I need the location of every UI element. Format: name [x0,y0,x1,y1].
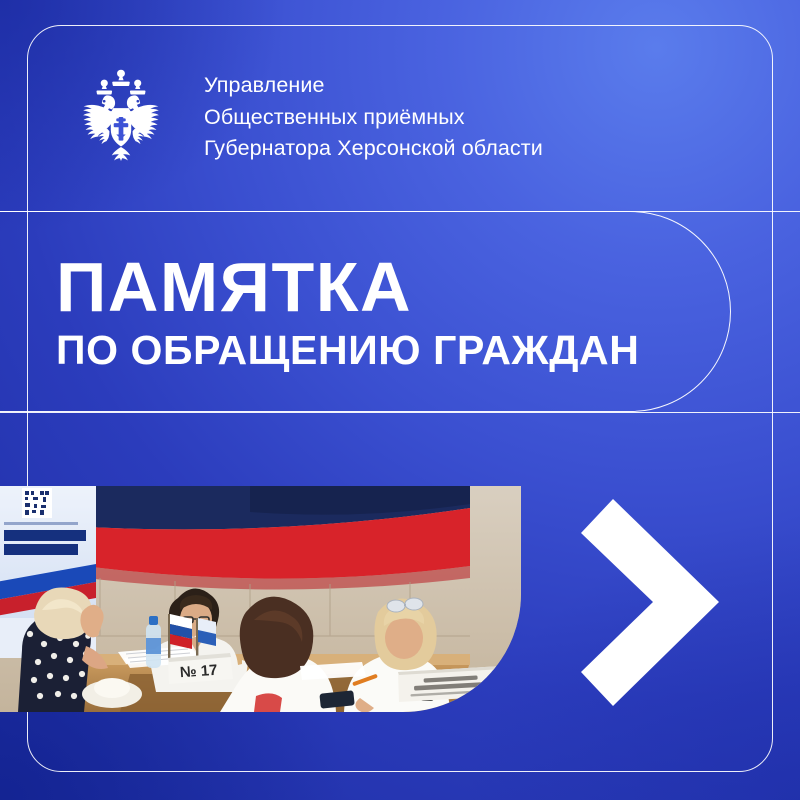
russian-double-headed-eagle-emblem-icon [62,58,180,176]
divider-line-bottom [0,412,800,413]
page-title: ПАМЯТКА [56,252,730,322]
org-line-3: Губернатора Херсонской области [204,134,543,162]
svg-text:№ 17: № 17 [179,662,218,682]
header-block: Управление Общественных приёмных Губерна… [62,58,543,176]
next-arrow-icon[interactable] [575,495,725,710]
org-line-2: Общественных приёмных [204,103,543,131]
photo-citizens-reception: № 17 [0,486,521,712]
page-subtitle: ПО ОБРАЩЕНИЮ ГРАЖДАН [56,330,730,371]
title-pill: ПАМЯТКА ПО ОБРАЩЕНИЮ ГРАЖДАН [0,211,731,412]
poster-canvas: Управление Общественных приёмных Губерна… [0,0,800,800]
organisation-name: Управление Общественных приёмных Губерна… [204,71,543,162]
org-line-1: Управление [204,71,543,99]
